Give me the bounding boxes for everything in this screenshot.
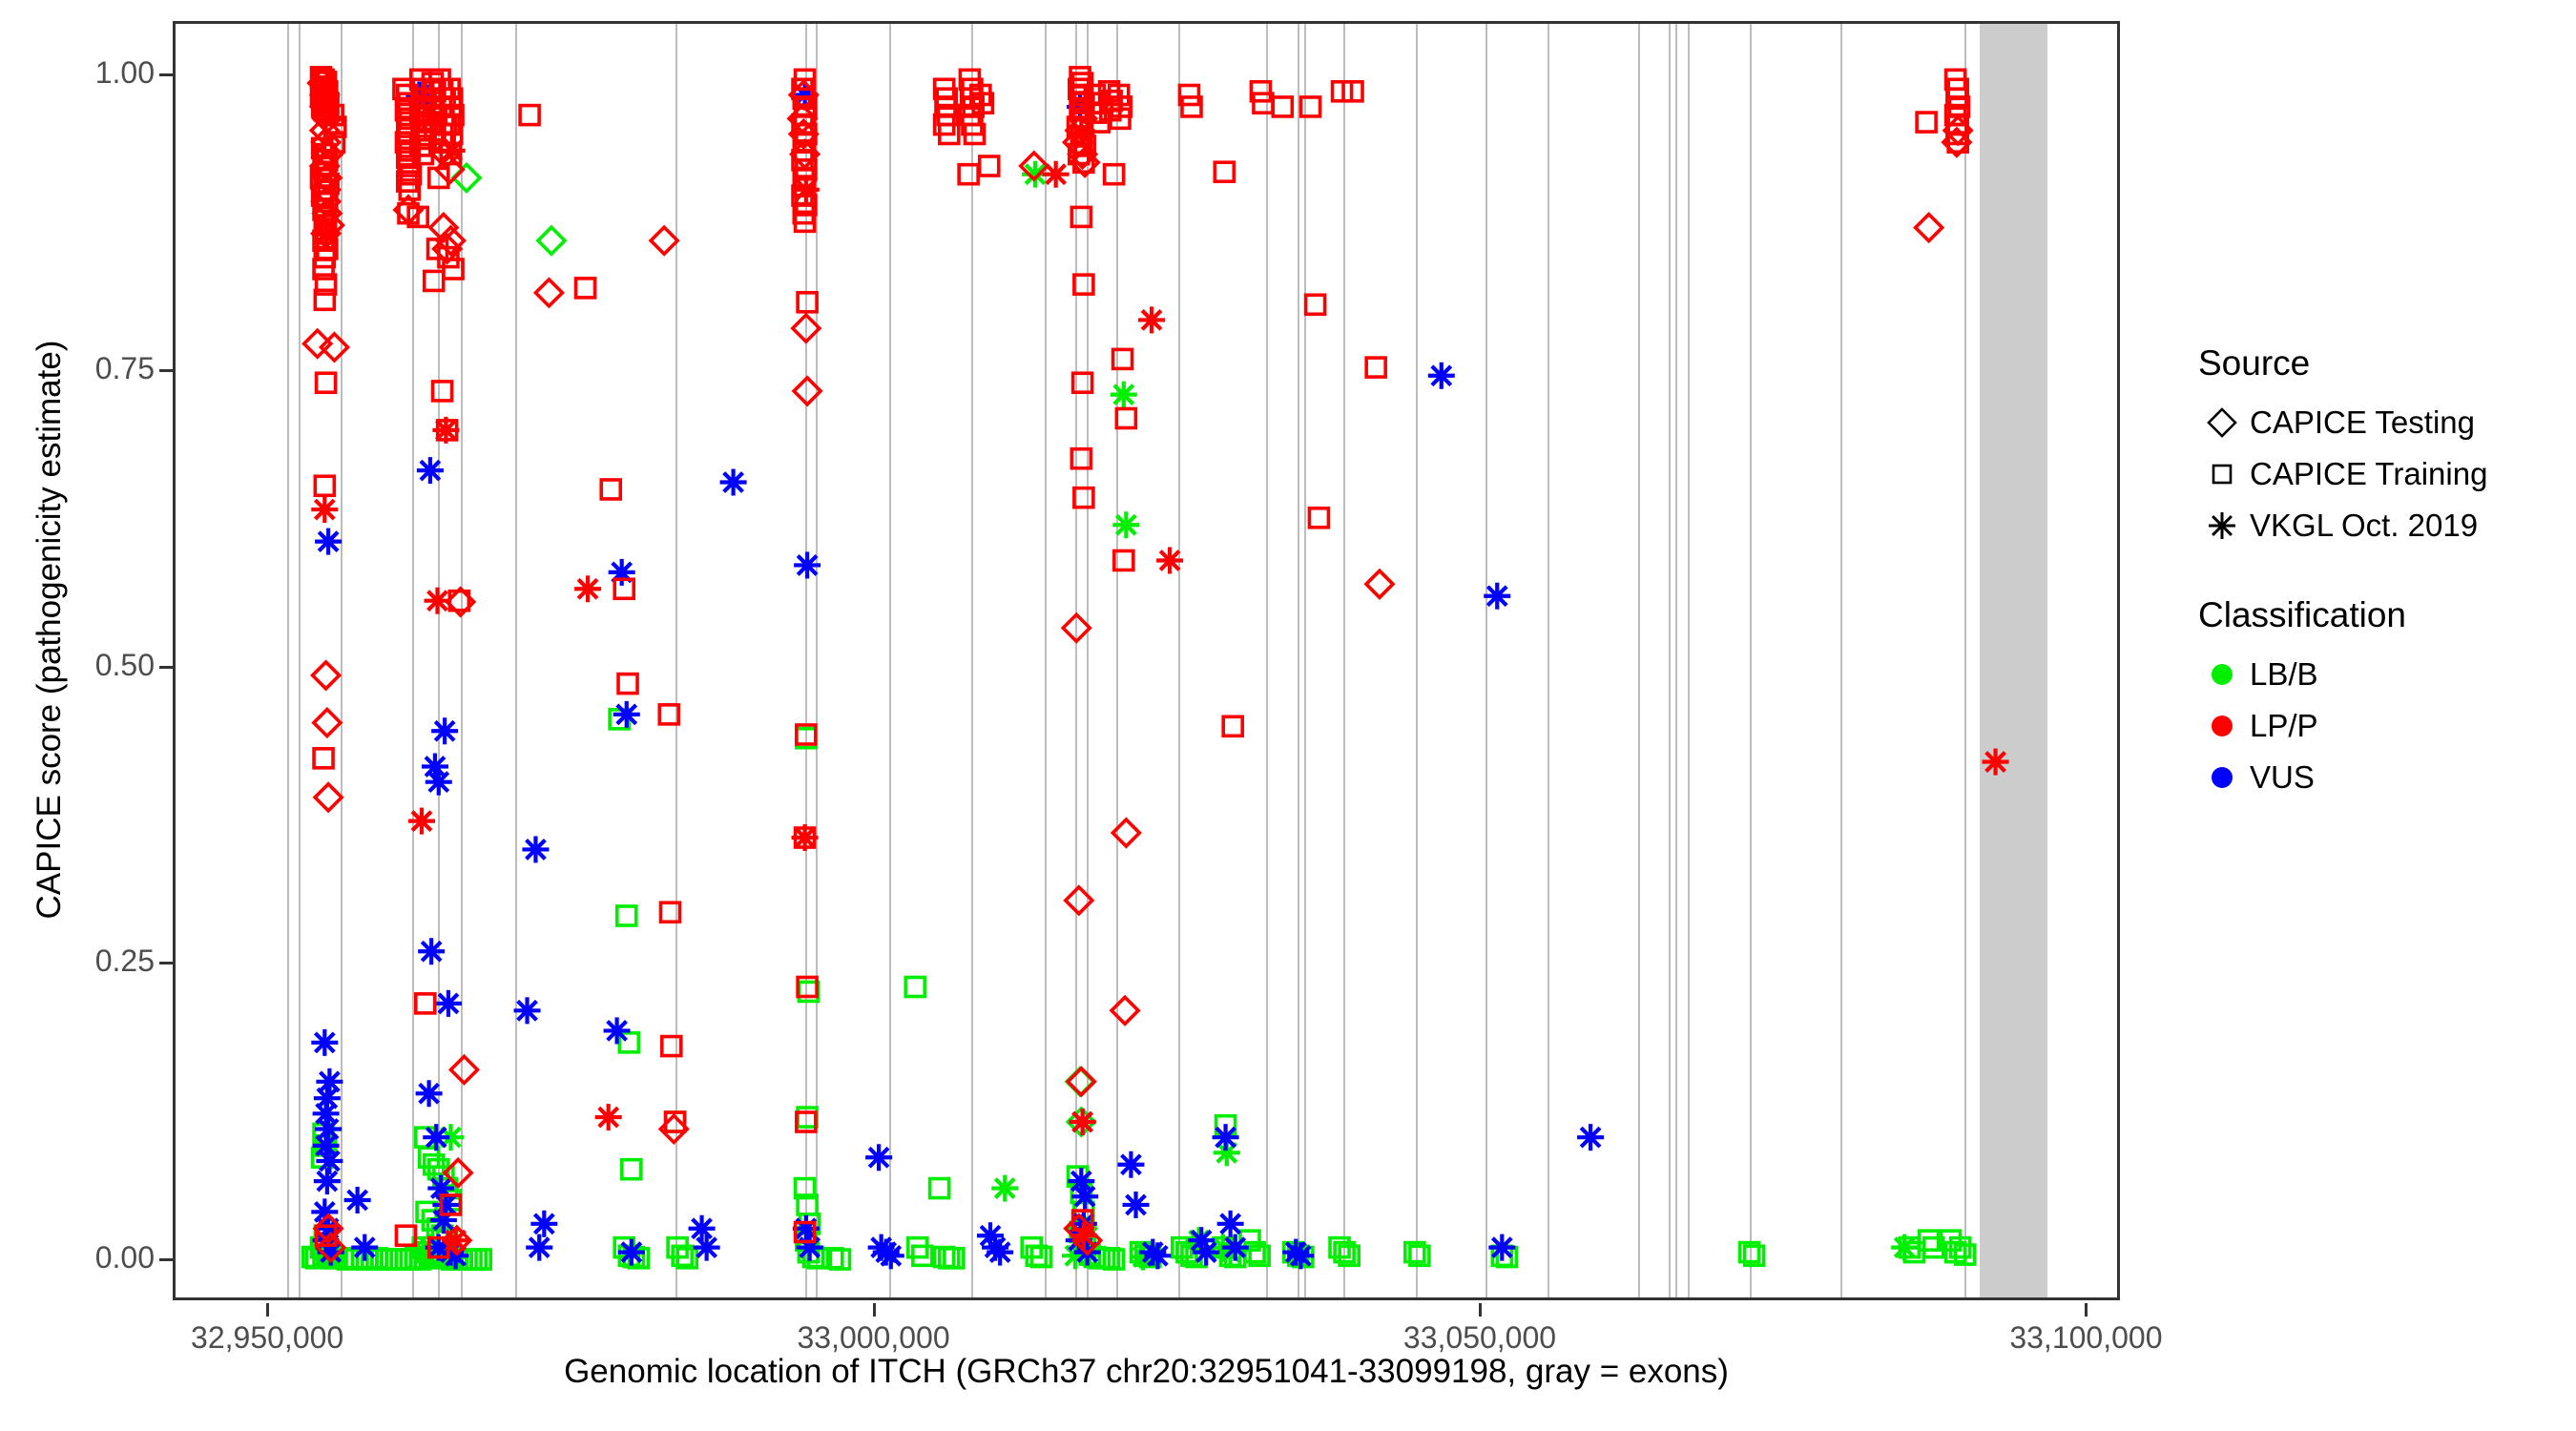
legend: Source CAPICE TestingCAPICE TrainingVKGL… bbox=[2194, 343, 2557, 803]
data-point bbox=[1484, 583, 1510, 610]
data-point bbox=[1917, 113, 1936, 132]
data-point bbox=[797, 1234, 823, 1261]
x-tick-label: 33,050,000 bbox=[1337, 1320, 1623, 1356]
data-point bbox=[526, 1234, 552, 1261]
x-tick bbox=[873, 1303, 876, 1317]
data-point bbox=[1215, 162, 1234, 181]
data-point bbox=[1074, 275, 1093, 294]
data-point bbox=[450, 1056, 477, 1083]
y-tick-label: 0.00 bbox=[0, 1240, 155, 1275]
data-point bbox=[1068, 1068, 1094, 1095]
data-point bbox=[1223, 716, 1242, 736]
data-point bbox=[311, 1029, 338, 1056]
legend-key bbox=[2194, 455, 2250, 493]
legend-title-source: Source bbox=[2198, 343, 2557, 384]
data-point bbox=[351, 1234, 378, 1261]
chart-root: CAPICE score (pathogenicity estimate) 0.… bbox=[0, 0, 2576, 1431]
data-point bbox=[416, 994, 435, 1013]
data-point bbox=[1916, 215, 1942, 241]
data-point bbox=[1111, 382, 1137, 408]
data-point bbox=[1113, 349, 1132, 368]
scatter-points-layer bbox=[176, 24, 2117, 1297]
legend-group-source: CAPICE TestingCAPICE TrainingVKGL Oct. 2… bbox=[2194, 397, 2557, 551]
data-point bbox=[416, 1080, 443, 1107]
data-point bbox=[315, 529, 342, 555]
data-point bbox=[1071, 449, 1091, 468]
data-point bbox=[651, 227, 677, 254]
data-point bbox=[617, 906, 636, 925]
data-point bbox=[1070, 1222, 1097, 1249]
data-point bbox=[1043, 161, 1070, 188]
data-point bbox=[604, 1017, 631, 1044]
data-point bbox=[311, 496, 338, 523]
data-point bbox=[1144, 1242, 1171, 1269]
circle-key-icon bbox=[2203, 655, 2241, 694]
data-point bbox=[878, 1242, 904, 1269]
data-point bbox=[522, 836, 549, 862]
data-point bbox=[1067, 1068, 1093, 1095]
legend-label: CAPICE Training bbox=[2250, 456, 2487, 492]
data-point bbox=[609, 559, 635, 586]
data-point bbox=[315, 476, 334, 495]
data-point bbox=[1073, 373, 1092, 392]
data-point bbox=[595, 1104, 622, 1130]
x-tick bbox=[266, 1303, 269, 1317]
data-point bbox=[431, 717, 458, 744]
asterisk-key-icon bbox=[2203, 507, 2241, 545]
data-point bbox=[1074, 488, 1093, 508]
circle-key-icon bbox=[2203, 758, 2241, 797]
data-point bbox=[1366, 358, 1385, 377]
data-point bbox=[1309, 508, 1328, 528]
data-point bbox=[418, 938, 445, 964]
data-point bbox=[1138, 306, 1165, 333]
legend-spacer bbox=[2194, 551, 2557, 595]
data-point bbox=[425, 588, 451, 614]
data-point bbox=[1071, 1183, 1098, 1210]
data-point bbox=[317, 373, 336, 392]
data-point bbox=[1117, 1151, 1144, 1178]
data-point bbox=[314, 710, 341, 736]
y-tick bbox=[159, 369, 173, 372]
data-point bbox=[313, 662, 340, 689]
data-point bbox=[1063, 614, 1090, 641]
data-point bbox=[314, 1168, 341, 1194]
data-point bbox=[1070, 1109, 1096, 1135]
data-point bbox=[1301, 97, 1320, 116]
data-point bbox=[423, 1124, 449, 1151]
data-point bbox=[1891, 1234, 1918, 1261]
data-point bbox=[618, 1239, 645, 1266]
data-point bbox=[622, 1160, 641, 1179]
legend-item-lb-b[interactable]: LB/B bbox=[2194, 649, 2557, 700]
legend-key bbox=[2194, 707, 2250, 745]
data-point bbox=[535, 280, 562, 306]
data-point bbox=[574, 575, 601, 602]
data-point bbox=[794, 551, 821, 578]
x-tick-label: 33,000,000 bbox=[731, 1320, 1017, 1356]
data-point bbox=[865, 1144, 892, 1171]
data-point bbox=[514, 997, 541, 1024]
data-point bbox=[794, 378, 821, 404]
data-point bbox=[1112, 511, 1139, 538]
data-point bbox=[530, 1211, 557, 1237]
data-point bbox=[659, 705, 678, 724]
data-point bbox=[601, 480, 620, 499]
y-tick bbox=[159, 1258, 173, 1261]
data-point bbox=[1577, 1124, 1604, 1151]
data-point bbox=[417, 457, 444, 484]
data-point bbox=[1983, 749, 2009, 776]
data-point bbox=[1222, 1234, 1249, 1261]
data-point bbox=[313, 220, 340, 247]
data-point bbox=[905, 977, 924, 996]
data-point bbox=[432, 417, 459, 444]
data-point bbox=[720, 469, 747, 496]
data-point bbox=[1112, 819, 1139, 846]
data-point bbox=[694, 1234, 720, 1261]
y-tick-label: 0.50 bbox=[0, 648, 155, 683]
circle-key-icon bbox=[2203, 707, 2241, 745]
data-point bbox=[991, 1175, 1018, 1202]
legend-label: VKGL Oct. 2019 bbox=[2250, 508, 2478, 544]
legend-key bbox=[2194, 404, 2250, 442]
legend-label: LB/B bbox=[2250, 656, 2318, 693]
data-point bbox=[792, 824, 819, 851]
data-point bbox=[618, 674, 637, 694]
data-point bbox=[1217, 1211, 1244, 1237]
data-point bbox=[930, 1179, 949, 1198]
legend-label: VUS bbox=[2250, 759, 2315, 796]
data-point bbox=[793, 176, 820, 203]
data-point bbox=[1306, 295, 1325, 314]
x-tick-label: 32,950,000 bbox=[124, 1320, 410, 1356]
data-point bbox=[1366, 570, 1393, 597]
plot-panel bbox=[173, 21, 2120, 1300]
data-point bbox=[520, 106, 539, 125]
y-tick bbox=[159, 962, 173, 964]
x-tick bbox=[2085, 1303, 2088, 1317]
data-point bbox=[959, 165, 978, 184]
data-point bbox=[613, 701, 640, 728]
legend-key bbox=[2194, 758, 2250, 797]
data-point bbox=[408, 808, 435, 835]
data-point bbox=[1114, 550, 1133, 570]
data-point bbox=[439, 137, 466, 164]
y-tick bbox=[159, 666, 173, 669]
data-point bbox=[798, 293, 817, 312]
legend-item-vus[interactable]: VUS bbox=[2194, 752, 2557, 803]
legend-key bbox=[2194, 507, 2250, 545]
data-point bbox=[1488, 1234, 1515, 1261]
data-point bbox=[443, 1227, 469, 1254]
data-point bbox=[1428, 363, 1455, 389]
legend-title-classification: Classification bbox=[2198, 595, 2557, 635]
y-tick bbox=[159, 73, 173, 76]
data-point bbox=[1071, 207, 1091, 226]
diamond-key-icon bbox=[2203, 404, 2241, 442]
data-point bbox=[1111, 997, 1138, 1024]
data-point bbox=[1068, 120, 1094, 147]
x-tick-label: 33,100,000 bbox=[1942, 1320, 2229, 1356]
data-point bbox=[435, 990, 462, 1017]
data-point bbox=[576, 279, 595, 298]
data-point bbox=[344, 1187, 371, 1213]
data-point bbox=[1287, 1242, 1314, 1269]
legend-label: LP/P bbox=[2250, 708, 2318, 744]
y-tick-label: 0.25 bbox=[0, 944, 155, 979]
y-tick-label: 0.75 bbox=[0, 351, 155, 386]
data-point bbox=[453, 164, 480, 191]
data-point bbox=[425, 271, 444, 290]
data-point bbox=[1366, 570, 1393, 597]
legend-item-capice-training[interactable]: CAPICE Training bbox=[2194, 448, 2557, 500]
legend-item-capice-testing[interactable]: CAPICE Testing bbox=[2194, 397, 2557, 448]
data-point bbox=[315, 784, 342, 811]
data-point bbox=[1105, 165, 1124, 184]
y-tick-label: 1.00 bbox=[0, 55, 155, 91]
data-point bbox=[987, 1239, 1013, 1266]
data-point bbox=[793, 315, 820, 342]
plot-area bbox=[176, 24, 2117, 1297]
legend-label: CAPICE Testing bbox=[2250, 404, 2475, 441]
data-point bbox=[1156, 547, 1183, 573]
data-point bbox=[316, 1148, 343, 1174]
data-point bbox=[433, 382, 452, 401]
legend-item-vkgl-oct-2019[interactable]: VKGL Oct. 2019 bbox=[2194, 500, 2557, 551]
legend-item-lp-p[interactable]: LP/P bbox=[2194, 700, 2557, 752]
data-point bbox=[1193, 1239, 1219, 1266]
data-point bbox=[661, 902, 680, 922]
data-point bbox=[1213, 1124, 1239, 1151]
x-tick bbox=[1479, 1303, 1482, 1317]
data-point bbox=[980, 156, 999, 176]
x-axis-title: Genomic location of ITCH (GRCh37 chr20:3… bbox=[173, 1353, 2120, 1391]
data-point bbox=[662, 1037, 681, 1056]
data-point bbox=[689, 1215, 716, 1242]
data-point bbox=[538, 227, 565, 254]
data-point bbox=[426, 769, 452, 796]
data-point bbox=[1116, 408, 1135, 427]
square-key-icon bbox=[2203, 455, 2241, 493]
legend-key bbox=[2194, 655, 2250, 694]
data-point bbox=[1066, 887, 1092, 914]
data-point bbox=[1273, 97, 1292, 116]
data-point bbox=[614, 579, 634, 598]
legend-group-classification: LB/BLP/PVUS bbox=[2194, 649, 2557, 803]
data-point bbox=[314, 749, 333, 768]
data-point bbox=[1123, 1192, 1150, 1218]
